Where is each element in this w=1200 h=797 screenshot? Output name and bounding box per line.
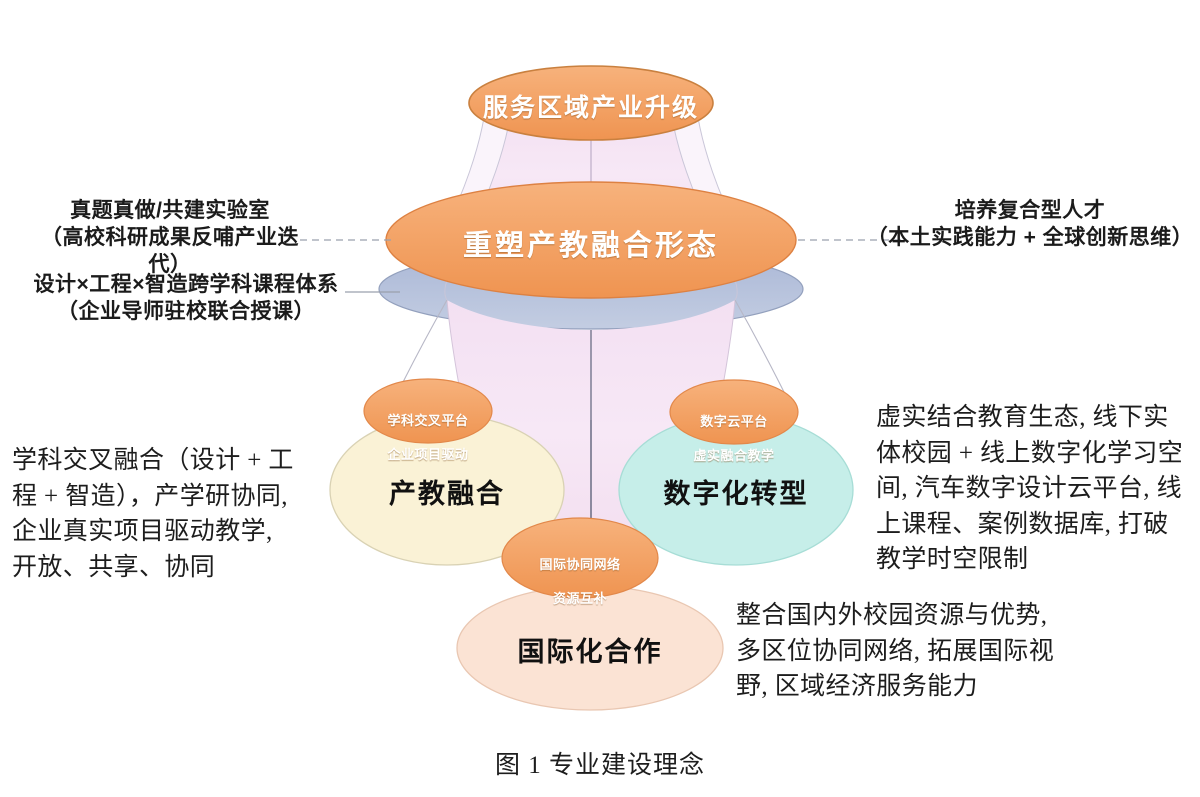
- badge-line-1: 数字云平台: [674, 414, 794, 431]
- description-bottom-right: 整合国内外校园资源与优势, 多区位协同网络, 拓展国际视野, 区域经济服务能力: [736, 598, 1066, 705]
- description-left: 学科交叉融合（设计 + 工程 + 智造），产学研协同, 企业真实项目驱动教学, …: [12, 443, 296, 585]
- badge-label-international-network: 国际协同网络 资源互补: [512, 540, 648, 624]
- annotation-right-top: 培养复合型人才 （本土实践能力 + 全球创新思维）: [864, 198, 1196, 252]
- figure-caption: 图 1 专业建设理念: [0, 745, 1200, 781]
- badge-line-2: 虚实融合教学: [674, 448, 794, 465]
- badge-line-1: 国际协同网络: [512, 557, 648, 574]
- description-right: 虚实结合教育生态, 线下实体校园 + 线上数字化学习空间, 汽车数字设计云平台,…: [876, 400, 1188, 578]
- badge-line-2: 企业项目驱动: [368, 447, 488, 464]
- badge-line-2: 资源互补: [512, 591, 648, 608]
- core-ellipse-label: 重塑产教融合形态: [441, 222, 741, 264]
- badge-line-1: 学科交叉平台: [368, 413, 488, 430]
- pillar-label-international-cooperation: 国际化合作: [500, 630, 680, 669]
- figure-canvas: 服务区域产业升级 重塑产教融合形态 产教融合 数字化转型 国际化合作 学科交叉平…: [0, 0, 1200, 797]
- annotation-left-bottom: 设计×工程×智造跨学科课程体系 （企业导师驻校联合授课）: [22, 272, 350, 326]
- annotation-left-top: 真题真做/共建实验室 （高校科研成果反哺产业迭代）: [36, 198, 304, 279]
- top-ellipse-label: 服务区域产业升级: [469, 88, 713, 124]
- badge-label-cross-discipline-platform: 学科交叉平台 企业项目驱动: [368, 396, 488, 480]
- badge-label-digital-cloud-platform: 数字云平台 虚实融合教学: [674, 397, 794, 481]
